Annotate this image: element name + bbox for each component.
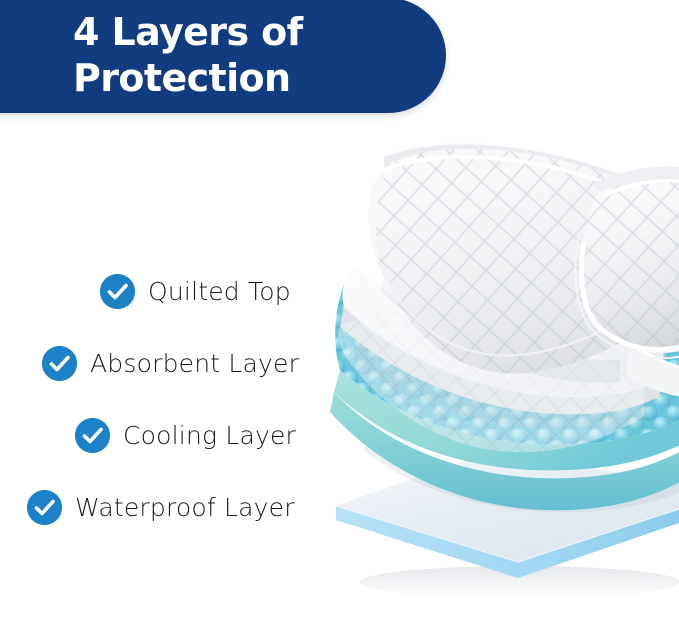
header-banner: 4 Layers of Protection <box>0 0 446 113</box>
checklist-item-label: Waterproof Layer <box>75 493 295 522</box>
checklist-item-label: Quilted Top <box>148 277 291 306</box>
infographic-root: 4 Layers of Protection <box>0 0 679 623</box>
checklist-item-absorbent-layer[interactable]: Absorbent Layer <box>42 346 299 381</box>
banner-title-line-2: Protection <box>73 55 413 101</box>
banner-title-line-1: 4 Layers of <box>73 9 413 55</box>
checklist-item-cooling-layer[interactable]: Cooling Layer <box>75 418 296 453</box>
checklist-item-label: Absorbent Layer <box>90 349 299 378</box>
checklist-item-waterproof-layer[interactable]: Waterproof Layer <box>27 490 295 525</box>
check-circle-icon <box>75 418 110 453</box>
checklist-item-label: Cooling Layer <box>123 421 296 450</box>
check-circle-icon <box>42 346 77 381</box>
check-circle-icon <box>100 274 135 309</box>
layer-stack-illustration <box>330 130 679 600</box>
check-circle-icon <box>27 490 62 525</box>
checklist-item-quilted-top[interactable]: Quilted Top <box>100 274 291 309</box>
banner-title: 4 Layers of Protection <box>73 9 413 101</box>
